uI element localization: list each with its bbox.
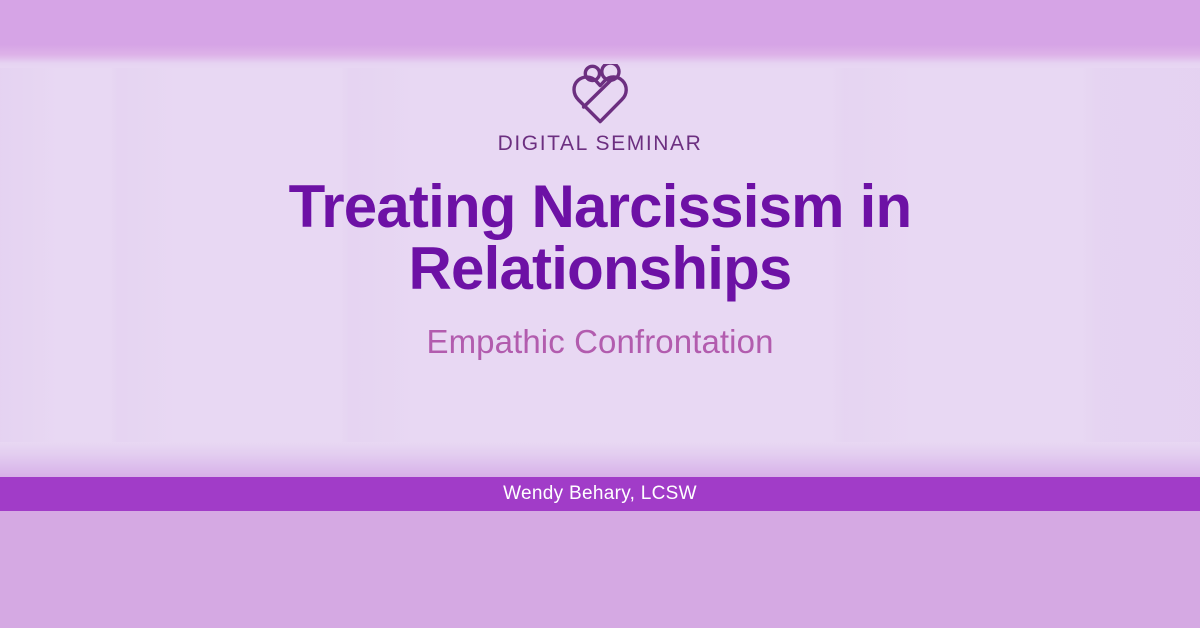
page-title: Treating Narcissism in Relationships bbox=[220, 176, 980, 301]
background-bottom-band bbox=[0, 511, 1200, 628]
two-people-heart-logo-icon bbox=[570, 64, 630, 126]
presenter-name: Wendy Behary, LCSW bbox=[503, 483, 697, 505]
presenter-band: Wendy Behary, LCSW bbox=[0, 477, 1200, 511]
promotional-banner: DIGITAL SEMINAR Treating Narcissism in R… bbox=[0, 0, 1200, 628]
kicker-label: DIGITAL SEMINAR bbox=[498, 132, 703, 156]
banner-content: DIGITAL SEMINAR Treating Narcissism in R… bbox=[0, 0, 1200, 470]
subtitle: Empathic Confrontation bbox=[426, 323, 773, 361]
